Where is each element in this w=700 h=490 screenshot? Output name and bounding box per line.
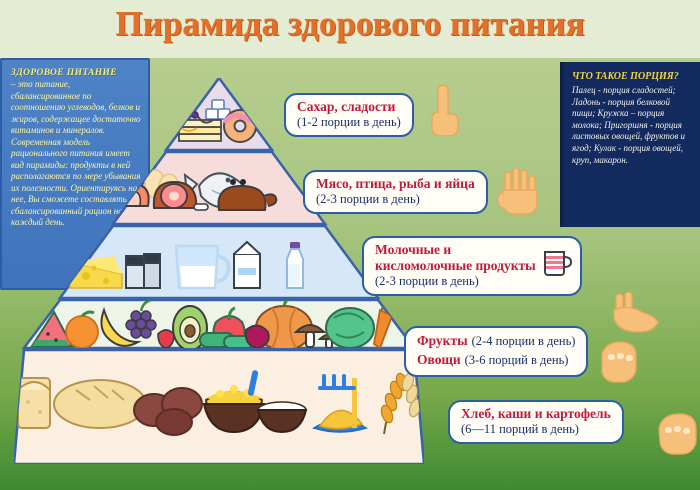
portion-definition-panel: ЧТО ТАКОЕ ПОРЦИЯ? Палец - порция сладост… — [560, 62, 700, 227]
salmon-icon — [117, 184, 149, 206]
callout-dairy-title-line1: Молочные и — [375, 242, 536, 258]
callout-vegetables-title: Овощи — [417, 352, 461, 367]
healthy-eating-heading: ЗДОРОВОЕ ПИТАНИЕ — [11, 68, 141, 78]
pyramid-tier-sugar — [166, 78, 272, 150]
open-palm-icon — [497, 166, 541, 216]
fist-icon — [596, 338, 640, 384]
portion-definition-heading: ЧТО ТАКОЕ ПОРЦИЯ? — [572, 71, 694, 83]
baguette-icon — [54, 380, 146, 428]
callout-bread[interactable]: Хлеб, каши и картофель (6—11 порций в де… — [448, 400, 624, 444]
pyramid-tier-dairy — [60, 226, 378, 298]
callout-sugar[interactable]: Сахар, сладости (1-2 порции в день) — [284, 93, 414, 137]
pyramid-tier-grain — [14, 350, 424, 464]
callout-dairy-portions: (2-3 порции в день) — [375, 274, 536, 289]
callout-fruits-vegetables[interactable]: Фрукты (2-4 порции в день) Овощи (3-6 по… — [404, 326, 588, 377]
callout-meat[interactable]: Мясо, птица, рыба и яйца (2-3 порции в д… — [303, 170, 488, 214]
bread-icon — [18, 378, 50, 428]
callout-meat-portions: (2-3 порции в день) — [316, 192, 475, 207]
callout-fruits-line: Фрукты (2-4 порции в день) — [417, 332, 575, 351]
callout-bread-title: Хлеб, каши и картофель — [461, 406, 611, 422]
beet-icon — [246, 325, 269, 348]
fist-icon-bottom — [655, 410, 700, 456]
callout-fruits-title: Фрукты — [417, 333, 468, 348]
strawberry-icon — [158, 330, 174, 348]
pyramid-tier-produce — [24, 298, 414, 350]
callout-sugar-title: Сахар, сладости — [297, 99, 401, 115]
cabbage-icon — [326, 308, 374, 348]
callout-vegetables-portions: (3-6 порций в день) — [465, 353, 569, 367]
callout-fruits-portions: (2-4 порции в день) — [472, 334, 576, 348]
page-title: Пирамида здорового питания — [0, 4, 700, 44]
donut-icon — [224, 110, 256, 142]
pyramid-tier-meat — [113, 152, 325, 224]
callout-dairy[interactable]: Молочные и кисломолочные продукты (2-3 п… — [362, 236, 582, 296]
portion-definition-text: Палец - порция сладостей; Ладонь - порци… — [572, 85, 694, 166]
callout-meat-title: Мясо, птица, рыба и яйца — [316, 176, 475, 192]
mug-icon — [542, 248, 572, 278]
milk-box-icon — [126, 254, 160, 288]
callout-bread-portions: (6—11 порций в день) — [461, 422, 611, 437]
callout-sugar-portions: (1-2 порции в день) — [297, 115, 401, 130]
cupped-hand-icon — [612, 292, 660, 336]
callout-dairy-title-line2: кисломолочные продукты — [375, 258, 536, 274]
pointing-finger-icon — [425, 84, 461, 136]
callout-vegetables-line: Овощи (3-6 порций в день) — [417, 351, 575, 370]
infographic-canvas: Пирамида здорового питания ЗДОРОВОЕ ПИТА… — [0, 0, 700, 490]
